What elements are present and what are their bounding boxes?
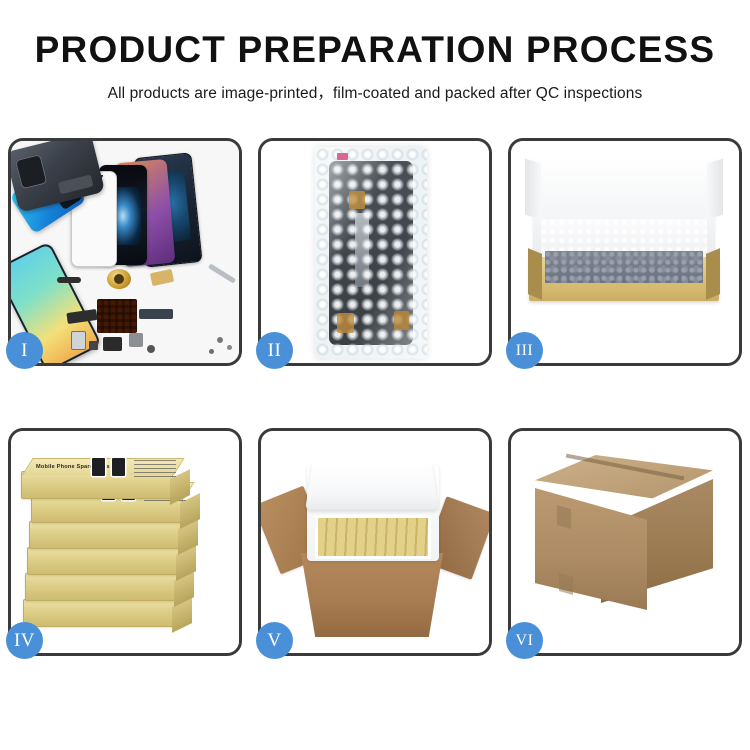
step-badge-5: V [256,622,293,659]
step-badge-2: II [256,332,293,369]
step-3-photo [511,141,739,363]
screw-part [217,337,223,343]
box-spec-lines [134,457,176,477]
flex-cable-lower-right [394,311,409,330]
flex-cable-grey-part [139,309,173,319]
process-step-3: III [508,138,742,366]
plastic-gloss-overlay [315,147,427,359]
step-1-photo [11,141,239,363]
speaker-part [103,337,122,351]
tweezers-tool [208,263,236,283]
carton-tape-lower [559,573,573,595]
step-2-photo [261,141,489,363]
header: PRODUCT PREPARATION PROCESS All products… [0,0,750,103]
process-step-2: II [258,138,492,366]
box-phone-graphic [92,458,105,476]
step-5-photo [261,431,489,653]
step-badge-4: IV [6,622,43,659]
box-phone-graphic [112,458,125,476]
screw-part [209,349,214,354]
process-step-5: V [258,428,492,656]
taptic-engine-part [107,269,131,289]
flex-cable-upper [349,191,365,209]
box-lid-printed: Mobile Phone Spare Parts [22,458,185,475]
chip-part [129,333,143,347]
page-title: PRODUCT PREPARATION PROCESS [0,30,750,71]
process-step-4: Mobile Phone Spare Parts Mobile Phone Sp… [8,428,242,656]
product-preparation-infographic: PRODUCT PREPARATION PROCESS All products… [0,0,750,750]
bubble-wrap-bag [315,147,427,359]
stacked-box [29,521,181,549]
carton-tape-upper [557,505,571,529]
pink-qc-sticker [337,153,348,160]
stacked-box [27,547,179,575]
foam-lid [305,463,439,510]
small-button-part [147,345,155,353]
step-badge-3: III [506,332,543,369]
small-component-part [89,341,98,350]
step-badge-1: I [6,332,43,369]
process-step-1: I [8,138,242,366]
gold-boxes-inside [315,515,431,559]
stacked-box [25,573,177,601]
grey-foam-padding [545,251,703,283]
logic-board-part [97,299,137,333]
process-step-6: VI [508,428,742,656]
step-badge-6: VI [506,622,543,659]
stacked-box-labeled-top: Mobile Phone Spare Parts [21,471,173,499]
shipping-carton [535,455,713,627]
step-6-photo [511,431,739,653]
carton-body [301,553,443,637]
stacked-box-labeled: Mobile Phone Spare Parts [31,495,183,523]
page-subtitle: All products are image-printed，film-coat… [0,81,750,103]
process-step-grid: I II III [8,138,742,656]
stacked-box [23,599,175,627]
carton-front-face [535,488,647,610]
flex-cable-lower-left [337,313,354,333]
step-4-photo: Mobile Phone Spare Parts Mobile Phone Sp… [11,431,239,653]
box-stack: Mobile Phone Spare Parts Mobile Phone Sp… [19,449,231,639]
screw-part [227,345,232,350]
battery-connector-part [57,277,81,283]
camera-module-part [71,331,86,350]
flex-cable-gold-part [150,269,174,286]
